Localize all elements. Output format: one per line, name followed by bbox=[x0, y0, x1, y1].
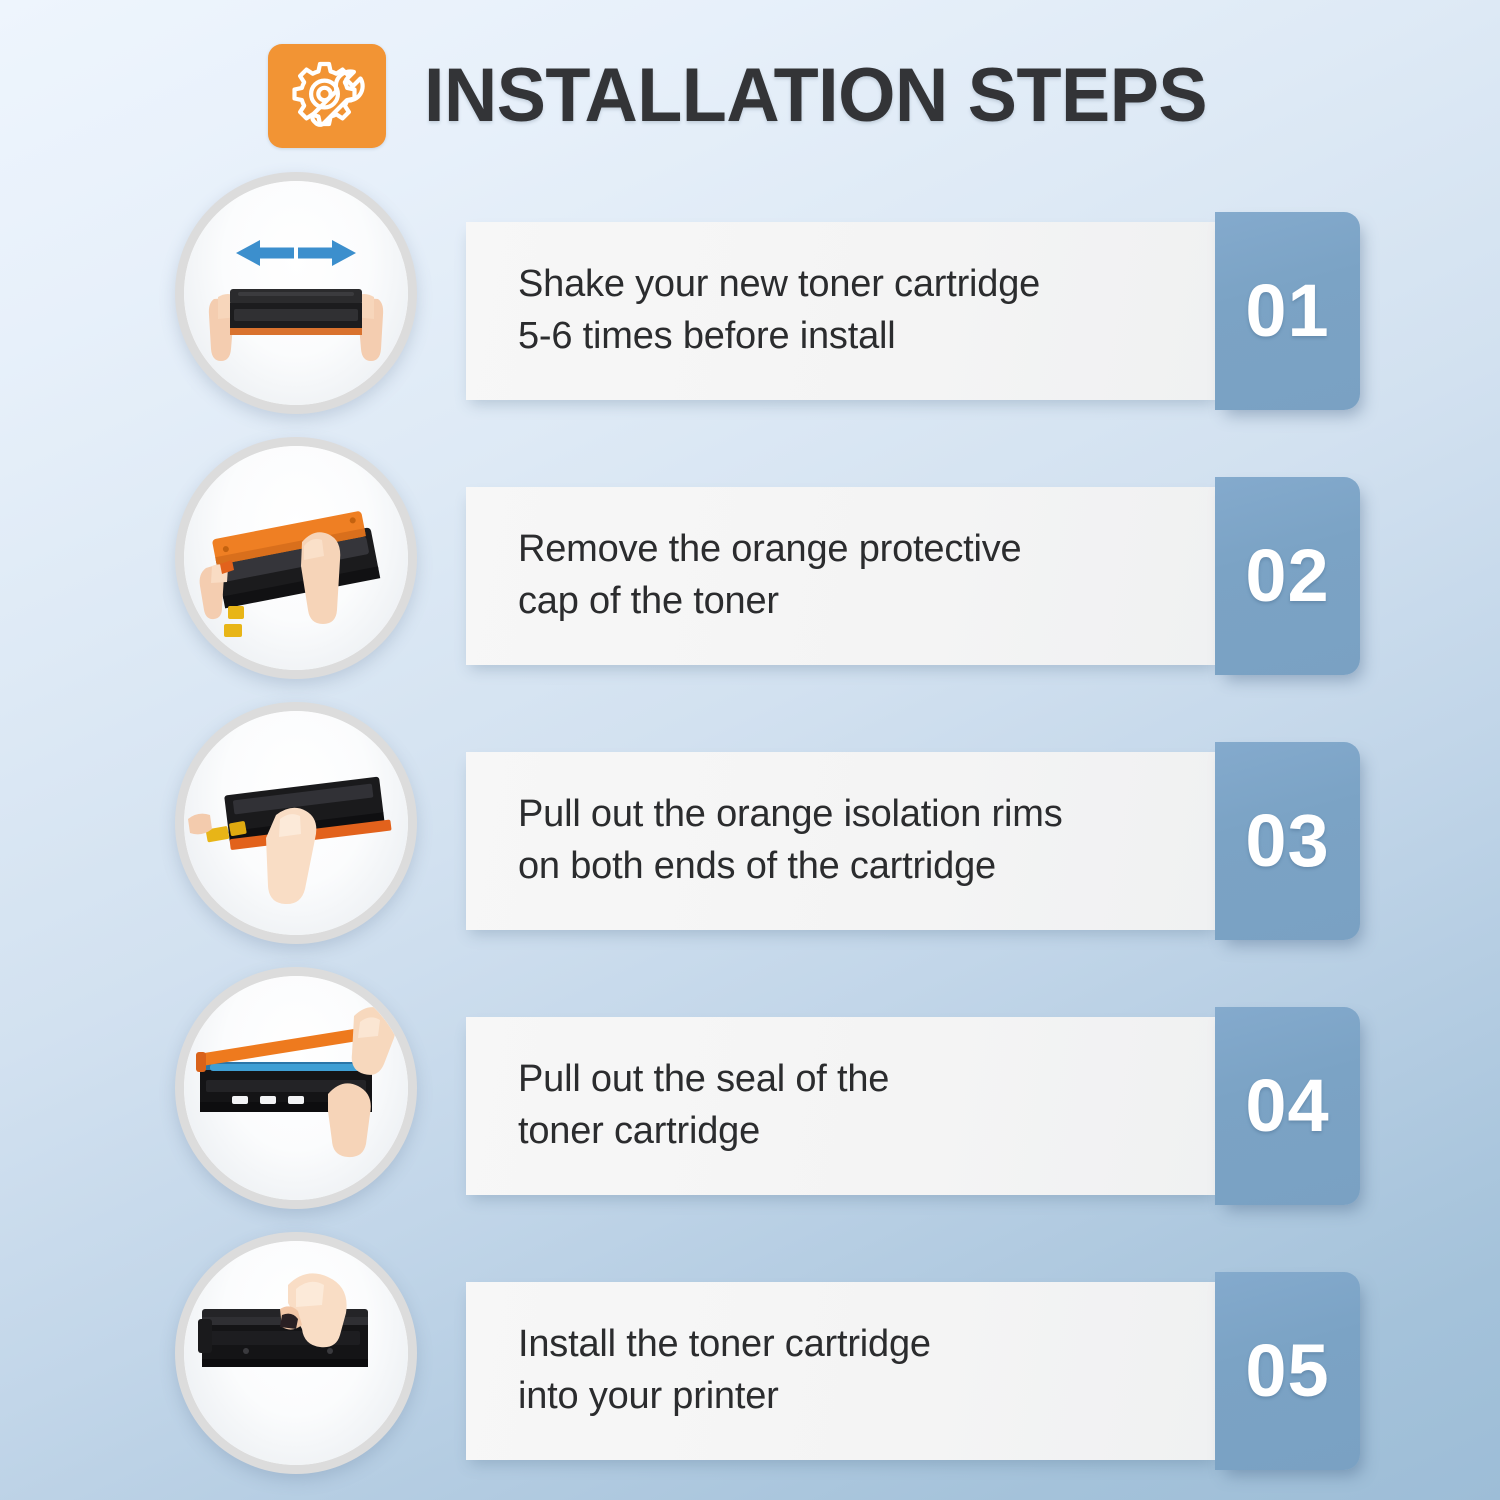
step-number: 01 bbox=[1245, 274, 1329, 348]
step-row: Remove the orange protective cap of the … bbox=[0, 425, 1500, 690]
step-text-line1: Pull out the orange isolation rims bbox=[518, 793, 1063, 835]
installation-steps-list: Shake your new toner cartridge 5-6 times… bbox=[0, 160, 1500, 1485]
step-image-3 bbox=[175, 702, 417, 944]
page-header: INSTALLATION STEPS bbox=[0, 44, 1500, 148]
step-row: Install the toner cartridge into your pr… bbox=[0, 1220, 1500, 1485]
step-card: Shake your new toner cartridge 5-6 times… bbox=[466, 222, 1218, 400]
step-image-4 bbox=[175, 967, 417, 1209]
step-text-line2: 5-6 times before install bbox=[518, 315, 895, 357]
step-card: Pull out the seal of the toner cartridge bbox=[466, 1017, 1218, 1195]
step-text: Pull out the orange isolation rims on bo… bbox=[466, 789, 1083, 892]
step-number-badge: 03 bbox=[1215, 742, 1360, 940]
step-text-line1: Shake your new toner cartridge bbox=[518, 263, 1040, 305]
gear-wrench-icon bbox=[268, 44, 386, 148]
step-text-line2: into your printer bbox=[518, 1375, 779, 1417]
page-title: INSTALLATION STEPS bbox=[424, 58, 1207, 134]
step-number-badge: 04 bbox=[1215, 1007, 1360, 1205]
step-text-line2: on both ends of the cartridge bbox=[518, 845, 996, 887]
step-text: Install the toner cartridge into your pr… bbox=[466, 1319, 951, 1422]
step-number-badge: 02 bbox=[1215, 477, 1360, 675]
step-number: 04 bbox=[1245, 1069, 1329, 1143]
step-card: Remove the orange protective cap of the … bbox=[466, 487, 1218, 665]
step-row: Pull out the orange isolation rims on bo… bbox=[0, 690, 1500, 955]
step-text-line2: toner cartridge bbox=[518, 1110, 760, 1152]
step-number: 05 bbox=[1245, 1334, 1329, 1408]
step-text: Shake your new toner cartridge 5-6 times… bbox=[466, 259, 1060, 362]
step-text-line1: Remove the orange protective bbox=[518, 528, 1021, 570]
step-number: 03 bbox=[1245, 804, 1329, 878]
step-text-line1: Pull out the seal of the bbox=[518, 1058, 889, 1100]
step-number: 02 bbox=[1245, 539, 1329, 613]
step-text: Pull out the seal of the toner cartridge bbox=[466, 1054, 909, 1157]
step-text-line1: Install the toner cartridge bbox=[518, 1323, 931, 1365]
step-card: Install the toner cartridge into your pr… bbox=[466, 1282, 1218, 1460]
step-number-badge: 01 bbox=[1215, 212, 1360, 410]
step-image-5 bbox=[175, 1232, 417, 1474]
step-number-badge: 05 bbox=[1215, 1272, 1360, 1470]
step-row: Shake your new toner cartridge 5-6 times… bbox=[0, 160, 1500, 425]
step-image-2 bbox=[175, 437, 417, 679]
step-row: Pull out the seal of the toner cartridge… bbox=[0, 955, 1500, 1220]
step-text-line2: cap of the toner bbox=[518, 580, 779, 622]
step-text: Remove the orange protective cap of the … bbox=[466, 524, 1041, 627]
step-image-1 bbox=[175, 172, 417, 414]
step-card: Pull out the orange isolation rims on bo… bbox=[466, 752, 1218, 930]
